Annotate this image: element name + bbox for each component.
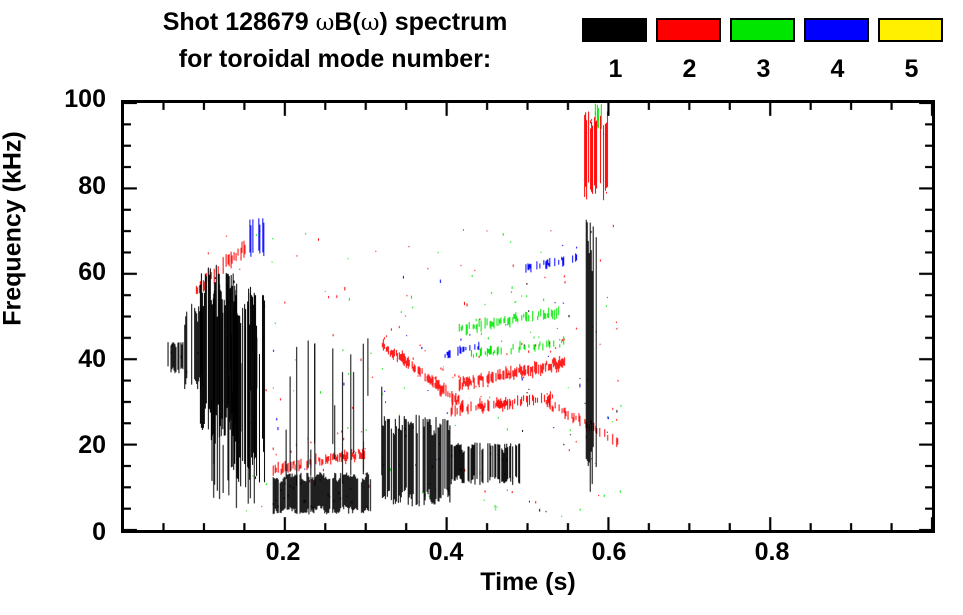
legend-label-5: 5: [878, 54, 945, 84]
legend-label-3: 3: [730, 54, 797, 84]
legend-label-2: 2: [656, 54, 723, 84]
x-tick-0.4: 0.4: [401, 540, 491, 565]
y-tick-100: 100: [16, 87, 106, 112]
legend-swatch-3: [730, 18, 795, 42]
y-tick-20: 20: [16, 433, 106, 458]
x-tick-0.6: 0.6: [564, 540, 654, 565]
title-spectrum-text: ) spectrum: [379, 8, 507, 36]
legend-swatch-2: [656, 18, 721, 42]
y-axis-title: Frequency (kHz): [0, 99, 28, 359]
y-tick-0: 0: [16, 520, 106, 545]
x-axis-title: Time (s): [121, 568, 935, 597]
y-tick-60: 60: [16, 260, 106, 285]
legend-swatch-5: [878, 18, 943, 42]
figure-title: Shot 128679 ωB(ω) spectrum for toroidal …: [95, 4, 575, 77]
omega-symbol-1: ω: [316, 10, 335, 36]
legend-item-2[interactable]: 2: [656, 18, 723, 84]
spectrogram-canvas: [124, 103, 932, 530]
legend: 12345: [575, 0, 963, 92]
legend-item-3[interactable]: 3: [730, 18, 797, 84]
x-tick-0.2: 0.2: [238, 540, 328, 565]
spectrogram-figure: Shot 128679 ωB(ω) spectrum for toroidal …: [0, 0, 963, 615]
omega-symbol-2: ω: [361, 10, 380, 36]
legend-label-4: 4: [804, 54, 871, 84]
title-line-2: for toroidal mode number:: [95, 41, 575, 77]
legend-item-4[interactable]: 4: [804, 18, 871, 84]
legend-swatch-4: [804, 18, 869, 42]
title-b-open: B(: [334, 8, 360, 36]
legend-item-1[interactable]: 1: [582, 18, 649, 84]
title-shot-text: Shot 128679: [163, 8, 316, 36]
plot-frame: [121, 100, 935, 533]
legend-label-1: 1: [582, 54, 649, 84]
y-tick-40: 40: [16, 347, 106, 372]
legend-item-5[interactable]: 5: [878, 18, 945, 84]
y-tick-80: 80: [16, 174, 106, 199]
y-axis-tick-labels: 020406080100: [16, 100, 106, 533]
x-tick-0.8: 0.8: [727, 540, 817, 565]
legend-swatch-1: [582, 18, 647, 42]
title-line-1: Shot 128679 ωB(ω) spectrum: [95, 4, 575, 41]
